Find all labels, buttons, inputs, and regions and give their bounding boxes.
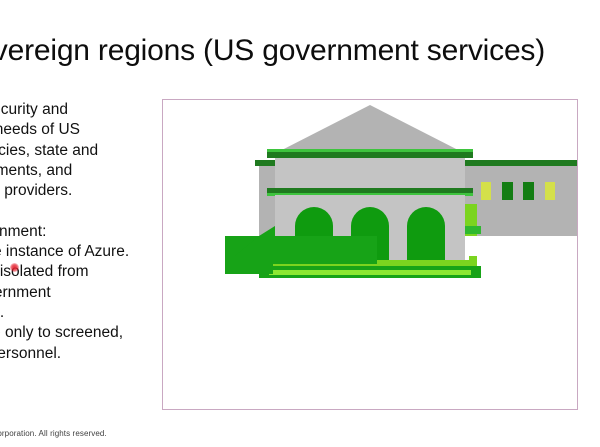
- azure-government-paragraph: Azure Government: Is a separate instance…: [0, 222, 160, 364]
- slide-canvas: Azure sovereign regions (US government s…: [0, 0, 600, 447]
- government-building-illustration: [163, 100, 577, 409]
- azgov-line-1: Azure Government:: [0, 222, 160, 242]
- intro-line-1: Meets the security and: [0, 100, 160, 120]
- azgov-line-3: Is physically isolated from: [0, 262, 160, 282]
- azgov-line-7: authorized personnel.: [0, 344, 160, 364]
- intro-line-3: federal agencies, state and: [0, 141, 160, 161]
- body-text-column: Meets the security and compliance needs …: [0, 100, 160, 364]
- intro-line-4: local governments, and: [0, 161, 160, 181]
- image-panel[interactable]: [162, 99, 578, 410]
- intro-line-5: their solution providers.: [0, 181, 160, 201]
- intro-paragraph: Meets the security and compliance needs …: [0, 100, 160, 201]
- azgov-line-2: Is a separate instance of Azure.: [0, 242, 160, 262]
- azgov-line-5: deployments.: [0, 303, 160, 323]
- azgov-line-4: the non-government: [0, 283, 160, 303]
- page-title: Azure sovereign regions (US government s…: [0, 33, 596, 69]
- footer-copyright: © Copyright Microsoft Corporation. All r…: [0, 428, 107, 439]
- intro-line-2: compliance needs of US: [0, 120, 160, 140]
- azgov-line-6: Is accessible only to screened,: [0, 323, 160, 343]
